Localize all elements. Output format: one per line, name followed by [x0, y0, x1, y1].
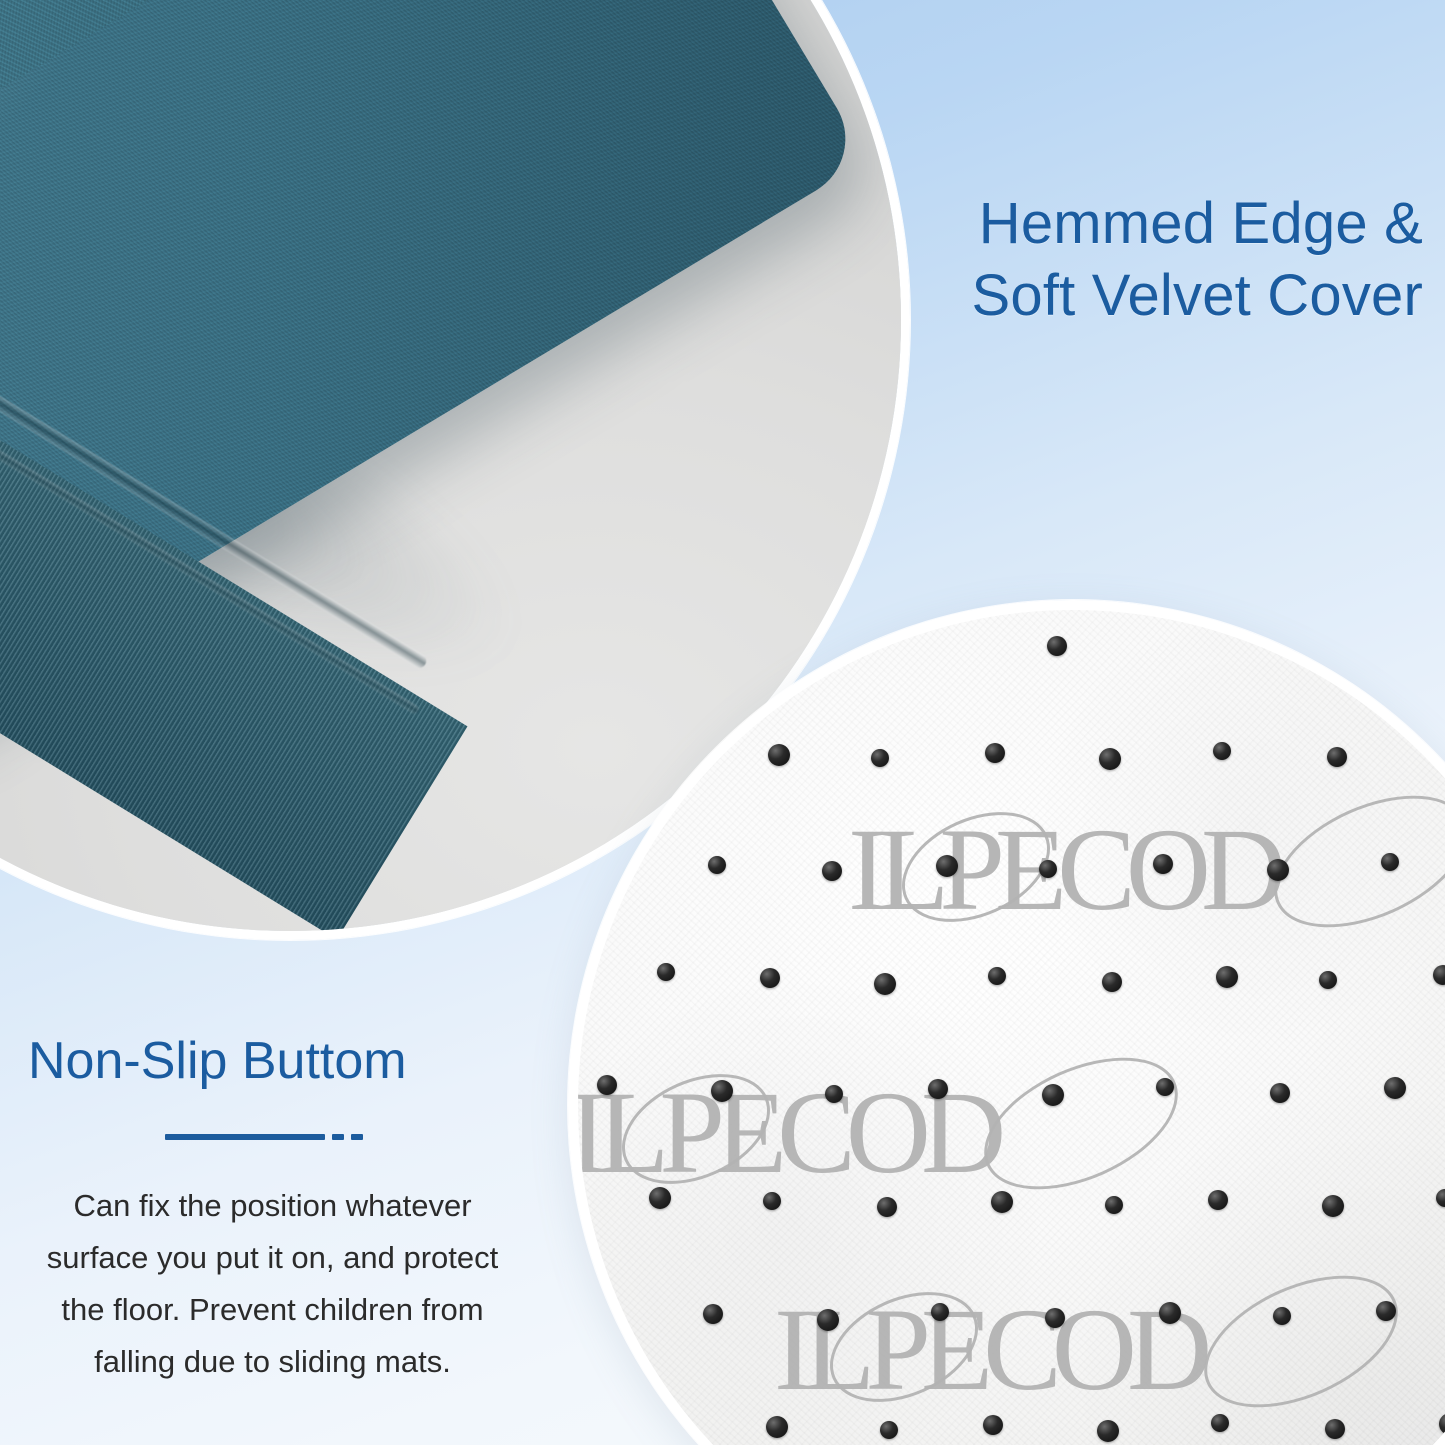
silicone-grip-dot: [1322, 1195, 1344, 1217]
silicone-grip-dot: [1211, 1414, 1229, 1432]
non-slip-bottom-photo: ILPECOD ILPECOD ILPECOD: [568, 600, 1445, 1445]
silicone-grip-dot: [1047, 636, 1067, 656]
silicone-grip-dot: [1270, 1083, 1290, 1103]
hemmed-edge-heading-line1: Hemmed Edge &: [971, 188, 1423, 260]
silicone-grip-dot: [874, 973, 896, 995]
heading-divider: [165, 1134, 380, 1140]
silicone-grip-dot: [877, 1197, 897, 1217]
silicone-grip-dot: [1102, 972, 1122, 992]
silicone-grip-dot: [1156, 1078, 1174, 1096]
divider-dash: [351, 1134, 363, 1140]
silicone-grip-dot: [1097, 1420, 1119, 1442]
silicone-grip-dot: [703, 1304, 723, 1324]
silicone-grip-dot: [649, 1187, 671, 1209]
silicone-grip-dot: [711, 1080, 733, 1102]
silicone-grip-dot: [597, 1075, 617, 1095]
non-slip-text-block: Non-Slip Buttom Can fix the position wha…: [0, 1030, 545, 1388]
non-slip-heading: Non-Slip Buttom: [0, 1030, 545, 1092]
hemmed-edge-heading: Hemmed Edge & Soft Velvet Cover: [971, 188, 1423, 332]
silicone-grip-dot: [768, 744, 790, 766]
silicone-grip-dot: [1208, 1190, 1228, 1210]
silicone-grip-dot: [1213, 742, 1231, 760]
silicone-grip-dot: [825, 1085, 843, 1103]
silicone-grip-dot: [763, 1192, 781, 1210]
silicone-grip-dot: [1384, 1077, 1406, 1099]
silicone-grip-dot: [822, 861, 842, 881]
silicone-grip-dot: [928, 1079, 948, 1099]
silicone-grip-dot: [1325, 1419, 1345, 1439]
silicone-grip-dot: [1319, 971, 1337, 989]
silicone-grip-dot: [988, 967, 1006, 985]
silicone-grip-dot: [817, 1309, 839, 1331]
divider-bar: [165, 1134, 325, 1140]
non-slip-description: Can fix the position whatever surface yo…: [0, 1180, 545, 1388]
silicone-grip-dot: [871, 749, 889, 767]
silicone-grip-dot: [1327, 747, 1347, 767]
silicone-grip-dot: [1273, 1307, 1291, 1325]
silicone-grip-dot: [1045, 1308, 1065, 1328]
silicone-grip-dot: [991, 1191, 1013, 1213]
silicone-grip-dot: [1042, 1084, 1064, 1106]
silicone-grip-dot: [1039, 860, 1057, 878]
silicone-grip-dot: [1376, 1301, 1396, 1321]
silicone-grip-dot: [1099, 748, 1121, 770]
product-feature-panel: Hemmed Edge & Soft Velvet Cover ILPECOD …: [0, 0, 1445, 1445]
silicone-grip-dot: [1105, 1196, 1123, 1214]
silicone-grip-dot: [880, 1421, 898, 1439]
silicone-grip-dot: [931, 1303, 949, 1321]
silicone-grip-dot: [1153, 854, 1173, 874]
silicone-grip-dot: [657, 963, 675, 981]
silicone-grip-dot: [985, 743, 1005, 763]
silicone-grip-dot: [1159, 1302, 1181, 1324]
silicone-grip-dot: [1267, 859, 1289, 881]
silicone-grip-dot: [708, 856, 726, 874]
silicone-grip-dot: [1381, 853, 1399, 871]
divider-dash: [332, 1134, 344, 1140]
silicone-grip-dot: [983, 1415, 1003, 1435]
hemmed-edge-heading-line2: Soft Velvet Cover: [971, 260, 1423, 332]
silicone-grip-dot: [1216, 966, 1238, 988]
silicone-grip-dot: [936, 855, 958, 877]
silicone-grip-dot: [766, 1416, 788, 1438]
silicone-grip-dot: [760, 968, 780, 988]
